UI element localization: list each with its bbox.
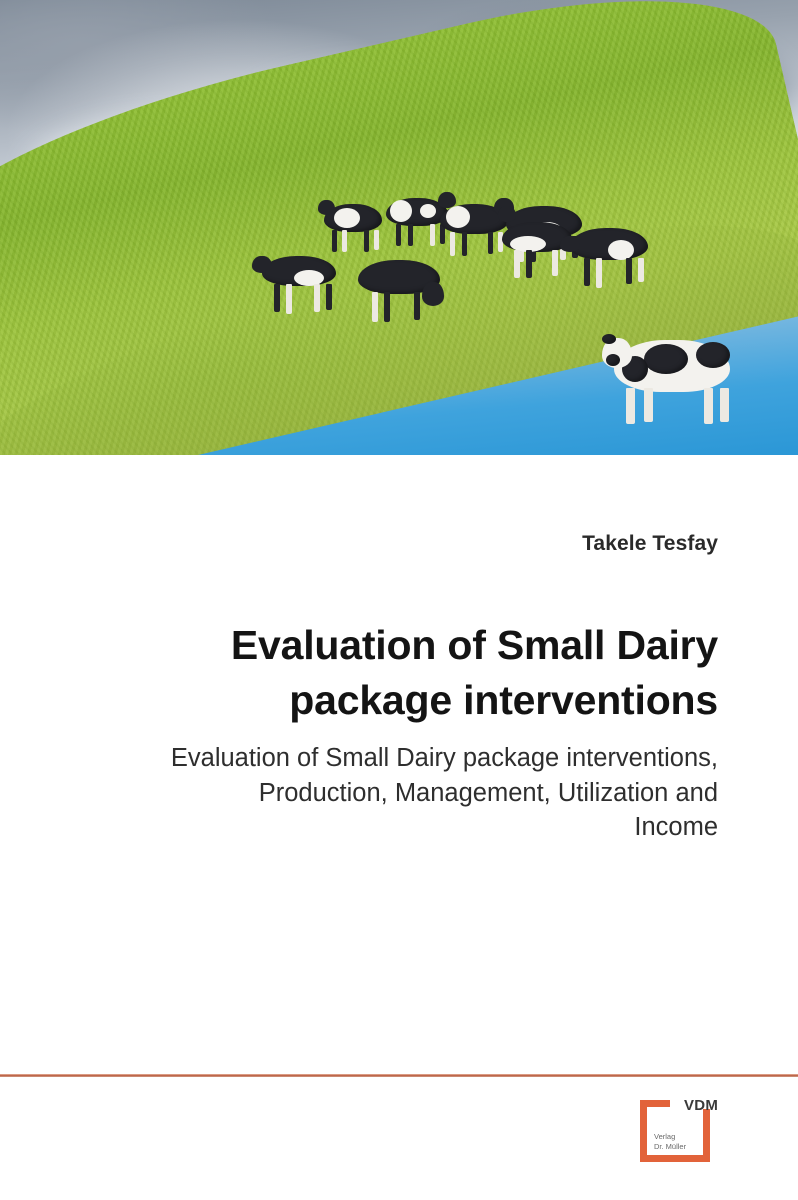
cow-patch-dark — [696, 342, 730, 368]
cow-figure — [348, 252, 452, 330]
publisher-logo: VDM Verlag Dr. Müller — [640, 1094, 750, 1172]
publisher-name: VDM — [684, 1097, 718, 1114]
title-line: Evaluation of Small Dairy — [78, 618, 718, 673]
cow-patch — [390, 200, 412, 222]
cow-muzzle — [606, 354, 620, 366]
cow-leg — [326, 284, 332, 310]
cow-patch-dark — [644, 344, 688, 374]
footer-divider — [0, 1074, 798, 1077]
cow-leg — [374, 230, 379, 250]
cow-leg — [372, 292, 378, 322]
publisher-imprint: Verlag Dr. Müller — [654, 1132, 686, 1152]
cow-head — [560, 236, 580, 252]
cow-leg — [720, 388, 729, 422]
cow-head — [318, 200, 335, 215]
cow-leg — [526, 250, 532, 278]
cow-leg — [364, 230, 369, 252]
cow-leg — [274, 284, 280, 312]
cow-patch — [334, 208, 360, 228]
cow-leg — [286, 284, 292, 314]
subtitle-line: Income — [78, 810, 718, 845]
cow-figure — [252, 248, 348, 322]
cow-leg — [514, 250, 520, 278]
cow-head — [422, 282, 444, 306]
cow-leg — [638, 258, 644, 282]
cow-head — [252, 256, 272, 273]
cow-figure — [560, 222, 660, 296]
cow-leg — [644, 388, 653, 422]
subtitle-line: Production, Management, Utilization and — [78, 776, 718, 811]
cover-photo — [0, 0, 798, 455]
book-subtitle: Evaluation of Small Dairy package interv… — [78, 741, 718, 845]
cow-ear — [602, 334, 616, 344]
cow-leg — [596, 258, 602, 288]
cow-leg — [408, 224, 413, 246]
cow-leg — [552, 250, 558, 276]
cow-leg — [626, 258, 632, 284]
book-cover: Takele Tesfay Evaluation of Small Dairy … — [0, 0, 798, 1200]
cow-patch — [446, 206, 470, 228]
cow-leg — [384, 292, 390, 322]
cow-leg — [314, 284, 320, 312]
cow-leg — [396, 224, 401, 246]
book-title: Evaluation of Small Dairy package interv… — [78, 618, 718, 727]
subtitle-line: Evaluation of Small Dairy package interv… — [78, 741, 718, 776]
cow-figure-foreground — [600, 330, 750, 430]
bracket-tick — [703, 1116, 710, 1130]
cow-patch — [608, 240, 634, 260]
cover-text-block: Takele Tesfay Evaluation of Small Dairy … — [78, 455, 718, 845]
cow-leg — [626, 388, 635, 424]
author-name: Takele Tesfay — [78, 532, 718, 556]
cow-leg — [414, 292, 420, 320]
title-line: package interventions — [78, 673, 718, 728]
cow-leg — [704, 388, 713, 424]
cow-leg — [462, 232, 467, 256]
cow-leg — [584, 258, 590, 286]
